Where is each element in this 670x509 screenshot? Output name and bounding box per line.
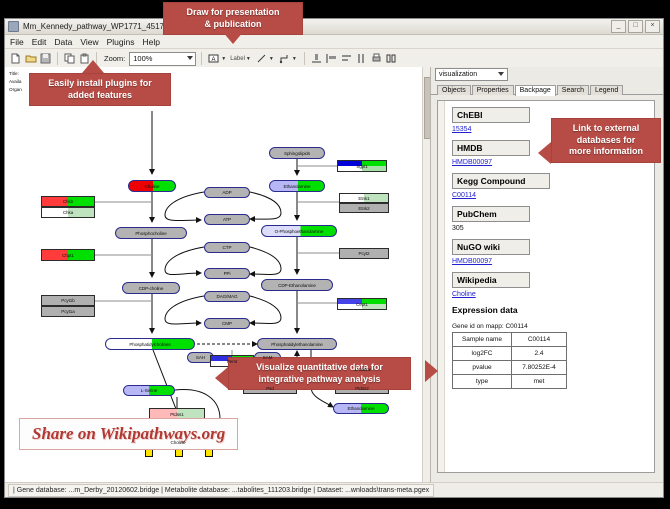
node-label: SAH xyxy=(196,355,205,360)
screenshot-root: Mm_Kennedy_pathway_WP1771_45176.gpml _ □… xyxy=(0,0,670,509)
node-cdp-choline[interactable]: CDP-choline xyxy=(122,282,180,294)
node-label: PPi xyxy=(224,271,231,276)
node-label: Psd xyxy=(266,386,274,391)
tab-legend[interactable]: Legend xyxy=(590,85,623,95)
cell-value: C00114 xyxy=(512,333,567,347)
node-label: SAM xyxy=(263,355,273,360)
node-label: Chkb xyxy=(63,199,73,204)
node-label: Pcyt2 xyxy=(359,251,370,256)
resize-handle[interactable] xyxy=(145,449,153,457)
cell-value: 2.4 xyxy=(512,347,567,361)
backpage-scrollbar[interactable] xyxy=(438,101,445,472)
tab-backpage[interactable]: Backpage xyxy=(515,85,556,96)
chevron-down-icon[interactable]: ▼ xyxy=(269,56,274,62)
connector-icon[interactable] xyxy=(278,52,291,65)
line-icon[interactable] xyxy=(255,52,268,65)
chevron-down-icon[interactable]: ▼ xyxy=(246,56,251,62)
node-pcyt1a[interactable]: Pcyt1a xyxy=(41,306,95,317)
node-label: Sphingolipids xyxy=(284,151,310,156)
node-ctp[interactable]: CTP xyxy=(204,242,250,253)
print-icon[interactable] xyxy=(370,52,383,65)
node-label: CDP-choline xyxy=(139,286,164,291)
node-label: Choline xyxy=(145,184,160,189)
chevron-down-icon[interactable]: ▼ xyxy=(221,56,226,62)
close-button[interactable]: × xyxy=(645,20,660,33)
node-label: Choline xyxy=(171,440,186,445)
db-link-wikipedia[interactable]: Choline xyxy=(452,291,646,298)
node-label: Ptdss1 xyxy=(170,412,183,417)
node-label: L-Serine xyxy=(141,388,158,393)
node-phosphocholine[interactable]: Phosphocholine xyxy=(115,227,187,239)
annotation-visualize: Visualize quantitative data for integrat… xyxy=(228,357,411,390)
node-label: ADP xyxy=(222,190,231,195)
menu-file[interactable]: File xyxy=(9,37,29,47)
zoom-value: 100% xyxy=(133,54,152,63)
node-label: DAG/MAG xyxy=(217,294,238,299)
annotation-visualize-arrow-right xyxy=(425,360,438,382)
annotation-links-text: Link to external databases for more info… xyxy=(569,123,643,156)
annotation-draw-arrow xyxy=(222,31,244,44)
table-row: pvalue 7.80252E-4 xyxy=(453,361,567,375)
visualization-combo[interactable]: visualization xyxy=(435,68,508,81)
chevron-down-icon xyxy=(187,56,193,60)
menu-help[interactable]: Help xyxy=(142,37,165,47)
node-label: Etnk1 xyxy=(358,196,369,201)
table-row: Sample name C00114 xyxy=(453,333,567,347)
db-link-kegg[interactable]: C00114 xyxy=(452,192,646,199)
group-icon[interactable] xyxy=(385,52,398,65)
node-label: CTP xyxy=(223,245,232,250)
toolbar-separator xyxy=(57,52,58,65)
node-label: Chka xyxy=(63,210,73,215)
node-chpt1[interactable]: Chpt1 xyxy=(41,249,95,261)
node-cdp-ethanolamine[interactable]: CDP-Ethanolamine xyxy=(261,279,333,291)
save-icon[interactable] xyxy=(39,52,52,65)
statusbar: | Gene database: ...m_Derby_20120602.bri… xyxy=(5,482,663,497)
node-label: Etnk2 xyxy=(358,206,369,211)
node-label: Pcyt1a xyxy=(61,309,74,314)
db-header-pubchem: PubChem xyxy=(452,206,530,222)
tab-search[interactable]: Search xyxy=(557,85,589,95)
node-dagmag[interactable]: DAG/MAG xyxy=(204,291,250,302)
annotation-visualize-text: Visualize quantitative data for integrat… xyxy=(256,362,383,384)
node-label: L-Serine xyxy=(355,367,372,372)
align-bottom-icon[interactable] xyxy=(310,52,323,65)
annotation-share-text: Share on Wikipathways.org xyxy=(32,424,225,443)
menu-data[interactable]: Data xyxy=(53,37,77,47)
annotation-draw-text: Draw for presentation & publication xyxy=(186,7,279,29)
node-etnk1[interactable]: Etnk1 xyxy=(339,193,389,203)
node-label: CMP xyxy=(222,321,232,326)
node-pcyt1b[interactable]: Pcyt1b xyxy=(41,295,95,306)
cell-key: pvalue xyxy=(453,361,512,375)
text-format-icon[interactable]: A xyxy=(207,52,220,65)
annotation-visualize-arrow xyxy=(215,367,228,389)
annotation-plugins-text: Easily install plugins for added feature… xyxy=(48,78,152,100)
align-left-icon[interactable] xyxy=(325,52,338,65)
cell-key: log2FC xyxy=(453,347,512,361)
annotation-links: Link to external databases for more info… xyxy=(551,118,661,163)
db-value-pubchem: 305 xyxy=(452,225,646,232)
db-header-chebi: ChEBI xyxy=(452,107,530,123)
gene-id-line: Gene id on mapp: C00114 xyxy=(452,323,646,330)
new-file-icon[interactable] xyxy=(9,52,22,65)
node-sphingolipids[interactable]: Sphingolipids xyxy=(269,147,325,159)
chevron-down-icon[interactable]: ▼ xyxy=(292,56,297,62)
maximize-button[interactable]: □ xyxy=(628,20,643,33)
table-row: log2FC 2.4 xyxy=(453,347,567,361)
db-header-hmdb: HMDB xyxy=(452,140,530,156)
node-label: Phosphatidylethanolamine xyxy=(271,342,323,347)
db-header-wikipedia: Wikipedia xyxy=(452,272,530,288)
menu-plugins[interactable]: Plugins xyxy=(106,37,140,47)
visualization-value: visualization xyxy=(439,71,477,78)
toolbar-separator xyxy=(304,52,305,65)
canvas-vertical-scrollbar[interactable] xyxy=(422,67,430,483)
node-pcyt2[interactable]: Pcyt2 xyxy=(339,248,389,259)
annotation-share: Share on Wikipathways.org xyxy=(19,418,238,450)
node-atp[interactable]: ATP xyxy=(204,214,250,225)
zoom-label: Zoom: xyxy=(104,54,125,63)
cell-key: type xyxy=(453,375,512,389)
window-titlebar: Mm_Kennedy_pathway_WP1771_45176.gpml _ □… xyxy=(5,19,663,35)
window-controls[interactable]: _ □ × xyxy=(611,20,660,33)
node-label: CDP-Ethanolamine xyxy=(278,283,316,288)
menu-edit[interactable]: Edit xyxy=(31,37,52,47)
node-label: O-Phosphoethanolamine xyxy=(275,229,324,234)
node-l-serine-left[interactable]: L-Serine xyxy=(123,385,175,396)
node-chka[interactable]: Chka xyxy=(41,207,95,218)
scrollbar-thumb[interactable] xyxy=(424,77,431,139)
node-o-phosphoethanolamine[interactable]: O-Phosphoethanolamine xyxy=(261,225,337,237)
label-button[interactable]: Label xyxy=(230,56,245,62)
node-label: Phosphocholine xyxy=(135,231,166,236)
tab-objects[interactable]: Objects xyxy=(437,85,471,95)
copy-icon[interactable] xyxy=(63,52,76,65)
node-label: ATP xyxy=(223,217,231,222)
zoom-combo[interactable]: 100% xyxy=(129,52,196,66)
visualization-row: visualization xyxy=(431,67,663,81)
table-row: type met xyxy=(453,375,567,389)
minimize-button[interactable]: _ xyxy=(611,20,626,33)
tab-properties[interactable]: Properties xyxy=(472,85,514,95)
chevron-down-icon xyxy=(498,72,504,76)
resize-handle[interactable] xyxy=(175,449,183,457)
db-link-nugo[interactable]: HMDB00097 xyxy=(452,258,646,265)
expression-table: Sample name C00114 log2FC 2.4 pvalue 7.8… xyxy=(452,332,567,389)
annotation-plugins-arrow xyxy=(82,60,104,73)
node-label: Pemt xyxy=(227,359,237,364)
cell-value: 7.80252E-4 xyxy=(512,361,567,375)
cell-value: met xyxy=(512,375,567,389)
annotation-links-arrow xyxy=(538,142,551,164)
db-header-nugo: NuGO wiki xyxy=(452,239,530,255)
db-header-kegg: Kegg Compound xyxy=(452,173,550,189)
node-phosphatidylethanolamine[interactable]: Phosphatidylethanolamine xyxy=(257,338,337,350)
stack-icon[interactable] xyxy=(355,52,368,65)
svg-text:A: A xyxy=(212,57,216,63)
node-cmp[interactable]: CMP xyxy=(204,318,250,329)
menu-view[interactable]: View xyxy=(79,37,103,47)
menubar: File Edit Data View Plugins Help xyxy=(5,35,663,49)
node-label: Pcyt1b xyxy=(61,298,74,303)
node-adp[interactable]: ADP xyxy=(204,187,250,198)
annotation-plugins: Easily install plugins for added feature… xyxy=(29,73,171,106)
expression-data-title: Expression data xyxy=(452,305,646,315)
node-etnk2[interactable]: Etnk2 xyxy=(339,203,389,213)
node-label: Ethanolamine xyxy=(284,184,311,189)
open-folder-icon[interactable] xyxy=(24,52,37,65)
toolbar-separator xyxy=(201,52,202,65)
app-icon xyxy=(8,21,19,32)
distribute-icon[interactable] xyxy=(340,52,353,65)
resize-handle[interactable] xyxy=(205,449,213,457)
node-chkb[interactable]: Chkb xyxy=(41,196,95,207)
node-label: Cept1 xyxy=(356,302,368,307)
node-phosphatidylcholines[interactable]: Phosphatidylcholines xyxy=(105,338,195,350)
side-tabs: Objects Properties Backpage Search Legen… xyxy=(431,81,663,95)
node-choline-top[interactable]: Choline xyxy=(128,180,176,192)
cell-key: Sample name xyxy=(453,333,512,347)
node-label: Sgpl1 xyxy=(356,164,367,169)
statusbar-databases: | Gene database: ...m_Derby_20120602.bri… xyxy=(8,484,434,497)
node-label: Chpt1 xyxy=(62,253,74,258)
node-label: Ethanolamine xyxy=(348,406,375,411)
node-label: Ptdss2 xyxy=(355,386,368,391)
node-ethanolamine-bottom[interactable]: Ethanolamine xyxy=(333,403,389,414)
node-ethanolamine-top[interactable]: Ethanolamine xyxy=(269,180,325,192)
node-ppi[interactable]: PPi xyxy=(204,268,250,279)
node-label: Phosphatidylcholines xyxy=(129,342,170,347)
